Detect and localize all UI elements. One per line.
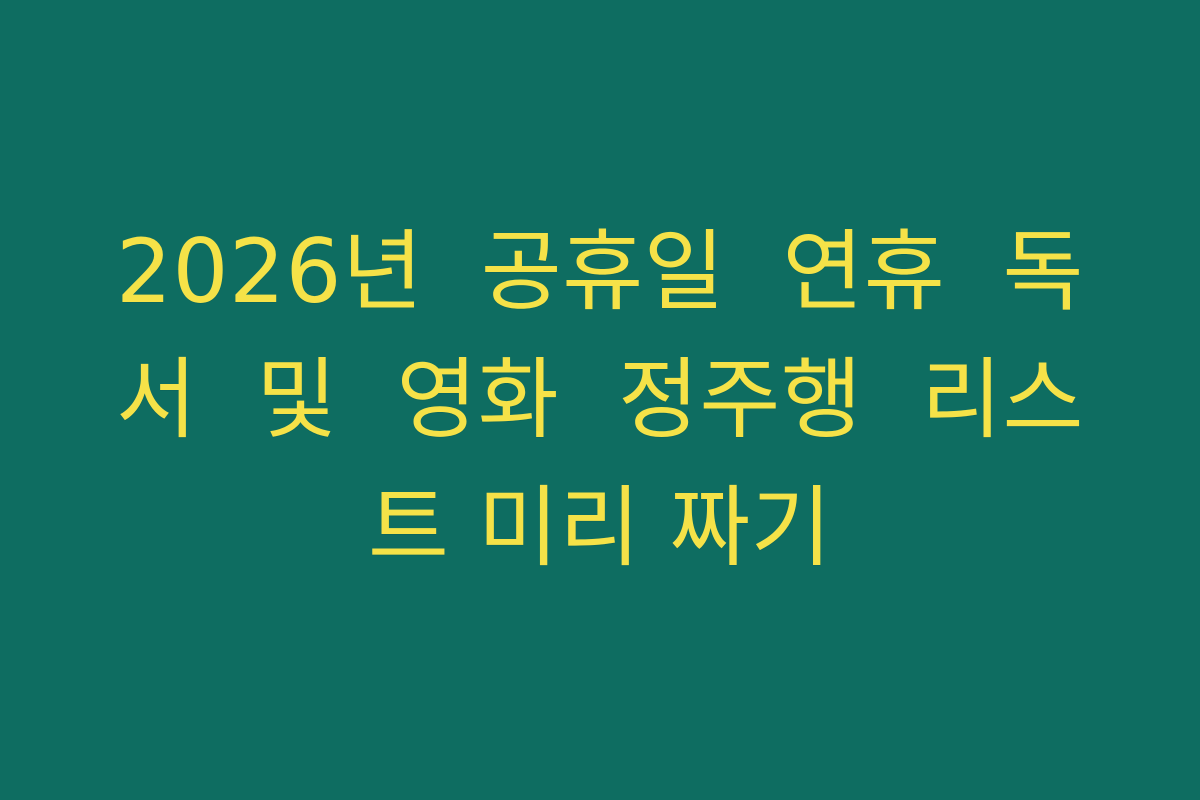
- title-line-1-chunk-4: 독: [1003, 208, 1084, 336]
- title-line-3: 트 미리 짜기: [116, 464, 1084, 592]
- title-line-1-chunk-1: 2026년: [116, 208, 423, 336]
- page-title: 2026년 공휴일 연휴 독 서 및 영화 정주행 리스 트 미리 짜기: [116, 208, 1084, 592]
- title-line-2-chunk-2: 및: [256, 336, 337, 464]
- title-line-2: 서 및 영화 정주행 리스: [116, 336, 1084, 464]
- title-block: 2026년 공휴일 연휴 독 서 및 영화 정주행 리스 트 미리 짜기: [116, 208, 1084, 592]
- title-card: 2026년 공휴일 연휴 독 서 및 영화 정주행 리스 트 미리 짜기: [0, 0, 1200, 800]
- title-line-2-chunk-3: 영화: [396, 336, 559, 464]
- title-line-2-chunk-4: 정주행: [618, 336, 862, 464]
- title-line-1-chunk-3: 연휴: [782, 208, 945, 336]
- title-line-2-chunk-1: 서: [116, 336, 197, 464]
- title-line-2-chunk-5: 리스: [921, 336, 1084, 464]
- title-line-1-chunk-2: 공휴일: [481, 208, 725, 336]
- title-line-1: 2026년 공휴일 연휴 독: [116, 208, 1084, 336]
